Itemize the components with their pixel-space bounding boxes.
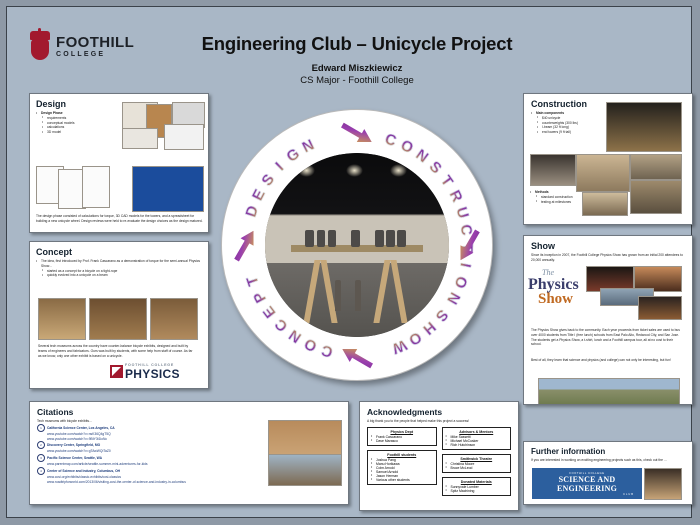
citation-entry: 1California Science Center, Los Angeles,… — [37, 424, 267, 442]
design-cad-render — [132, 166, 204, 212]
acknowledgment-name-list: Frank CascaranoDave Marasco — [371, 435, 433, 443]
acknowledgment-name: Dave Marasco — [371, 439, 433, 443]
further-text: If you are interested in working on exci… — [531, 458, 681, 463]
acknowledgment-group: Advisors & MentorsMike SassettiMichael M… — [442, 427, 512, 450]
acknowledgments-column-right: Advisors & MentorsMike SassettiMichael M… — [442, 427, 512, 500]
citation-entry: 3Pacific Science Center, Seattle, WAwww.… — [37, 454, 267, 467]
acknowledgment-name-list: Joshua PangManu HorikawaColm ArnoldSamue… — [371, 458, 433, 482]
show-paragraph-2: Best of all, they learn that science and… — [531, 358, 681, 363]
acknowledgments-heading: Acknowledgments — [367, 407, 511, 417]
bullet-item: quickly evolved into a unicycle on a bea… — [42, 273, 202, 278]
acknowledgment-group-title: Smithwick Theatre — [446, 457, 508, 461]
panel-design: Design Design Phaserequirementsconceptua… — [29, 93, 209, 233]
author-affiliation: CS Major - Foothill College — [157, 75, 557, 86]
panel-citations: Citations Tech museums with bicycle exhi… — [29, 401, 349, 505]
show-campus-photo — [538, 378, 680, 405]
citation-number: 1 — [37, 424, 45, 432]
acknowledgment-name-list: Mike SassettiMichael McCuskerRich Hutchi… — [446, 435, 508, 447]
panel-further-information: Further information If you are intereste… — [523, 441, 693, 505]
citation-title: Center of Science and Industry, Columbus… — [47, 469, 120, 473]
citation-entry: 2Discovery Center, Springfield, MOwww.yo… — [37, 441, 267, 454]
show-paragraph-1: The Physics Show gives back to the commu… — [531, 328, 681, 347]
panel-acknowledgments: Acknowledgments A big thank you to the p… — [359, 401, 519, 511]
physics-logo-big: PHYSICS — [125, 368, 180, 380]
show-photos — [586, 266, 682, 318]
science-engineering-club-banner[interactable]: FOOTHILL COLLEGE SCIENCE AND ENGINEERING… — [532, 468, 642, 499]
acknowledgment-name-list: Sunnyvale LumberSpitz Machining — [446, 485, 508, 493]
acknowledgment-name: Spitz Machining — [446, 489, 508, 493]
project-cycle-diagram: DESIGNCONSTRUCTIONSHOWCONCEPT — [221, 109, 493, 381]
logo-wordmark-line2: COLLEGE — [56, 51, 134, 58]
further-heading: Further information — [531, 447, 685, 456]
citation-title: California Science Center, Los Angeles, … — [47, 426, 115, 430]
concept-heading: Concept — [36, 247, 202, 257]
bullet-item: The idea, first introduced by Prof. Fran… — [36, 259, 202, 269]
cycle-center-photo — [265, 153, 449, 337]
concept-bullet-list: The idea, first introduced by Prof. Fran… — [36, 259, 202, 278]
poster-canvas: FOOTHILL COLLEGE Engineering Club – Unic… — [6, 6, 692, 518]
further-photo — [644, 468, 682, 500]
acorn-icon — [29, 31, 51, 61]
construction-methods-list: Methodsstandard constructiontesting at m… — [530, 190, 576, 204]
acknowledgment-group: Physics DeptFrank CascaranoDave Marasco — [367, 427, 437, 446]
citation-number: 3 — [37, 454, 45, 462]
acknowledgments-intro: A big thank you to the people that helpe… — [367, 419, 511, 424]
acknowledgment-group-title: Donated Materials — [446, 480, 508, 484]
show-heading: Show — [531, 241, 685, 251]
physics-show-logo-show: Show — [538, 292, 588, 306]
acknowledgment-group: Smithwick TheatreChristina MooreBruce Mc… — [442, 454, 512, 473]
foothill-physics-logo: FOOTHILL COLLEGE PHYSICS — [110, 364, 180, 380]
page-title: Engineering Club – Unicycle Project — [157, 33, 557, 55]
design-drawing-images — [36, 166, 112, 212]
panel-show: Show Since its inception in 2007, the Fo… — [523, 235, 693, 405]
banner-main-line: SCIENCE AND ENGINEERING — [534, 475, 640, 493]
foothill-college-logo: FOOTHILL COLLEGE — [29, 27, 149, 65]
concept-caption: Several tech museums across the country … — [38, 344, 196, 358]
citation-entry: 4Center of Science and Industry, Columbu… — [37, 467, 267, 485]
concept-photos — [38, 298, 198, 340]
citations-list: 1California Science Center, Los Angeles,… — [37, 424, 267, 485]
citation-title: Discovery Center, Springfield, MO — [47, 443, 100, 447]
citation-title: Pacific Science Center, Seattle, WA — [47, 456, 102, 460]
citations-photos — [268, 420, 342, 486]
design-sketch-images — [122, 102, 204, 156]
show-intro: Since its inception in 2007, the Foothil… — [531, 253, 685, 263]
panel-concept: Concept The idea, first introduced by Pr… — [29, 241, 209, 389]
acknowledgment-group: Foothill studentsJoshua PangManu Horikaw… — [367, 450, 437, 485]
bullet-item: testing at milestones — [536, 200, 576, 205]
logo-wordmark-line1: FOOTHILL — [56, 35, 134, 50]
panel-construction: Construction Main components$40 unicycle… — [523, 93, 693, 225]
acknowledgment-name: Rich Hutchinson — [446, 443, 508, 447]
acknowledgments-column-left: Physics DeptFrank CascaranoDave MarascoF… — [367, 427, 437, 500]
citations-heading: Citations — [37, 407, 341, 417]
design-caption: The design phase consisted of calculatio… — [36, 214, 204, 224]
acknowledgment-group-title: Foothill students — [371, 453, 433, 457]
physics-logo-mark — [110, 365, 123, 378]
construction-photo-main — [606, 102, 682, 152]
physics-show-logo: The Physics Show — [528, 268, 588, 322]
acknowledgment-group-title: Physics Dept — [371, 430, 433, 434]
citation-number: 4 — [37, 467, 45, 475]
physics-show-logo-physics: Physics — [528, 277, 588, 292]
acknowledgment-group: Donated MaterialsSunnyvale LumberSpitz M… — [442, 477, 512, 496]
acknowledgment-name: Various other students — [371, 478, 433, 482]
acknowledgment-name-list: Christina MooreBruce McLeod — [446, 462, 508, 470]
banner-sub-line: CLUB — [534, 493, 640, 496]
acknowledgment-name: Bruce McLeod — [446, 466, 508, 470]
construction-photo-grid — [530, 154, 682, 214]
author-name: Edward Miszkiewicz — [157, 63, 557, 74]
citation-number: 2 — [37, 441, 45, 449]
acknowledgment-group-title: Advisors & Mentors — [446, 430, 508, 434]
citation-url[interactable]: www.roadtripforworld.com/2013/06/visitin… — [37, 480, 267, 485]
